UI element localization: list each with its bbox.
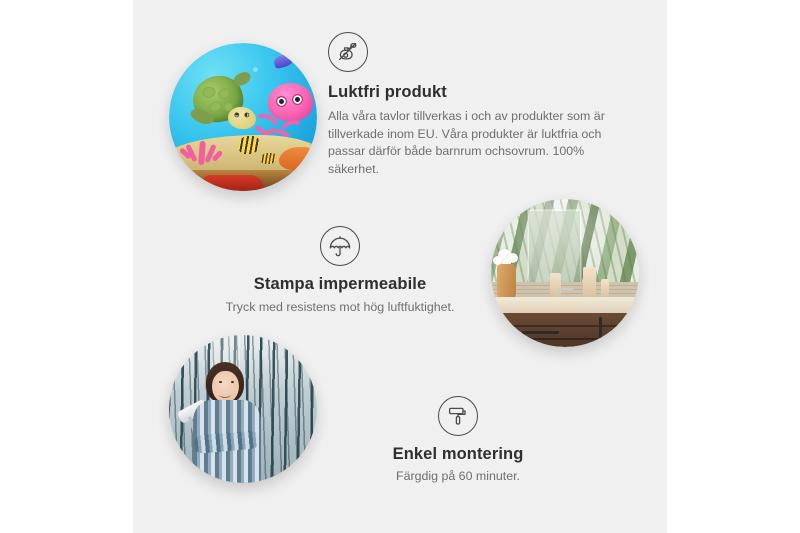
- octopus-eye: [276, 96, 287, 107]
- photo-forest-inner: [169, 335, 317, 483]
- feature-easy-install: Enkel montering Färgdig på 60 minuter.: [323, 396, 593, 486]
- toiletry-bottle: [583, 267, 596, 300]
- screenshot-root: Luktfri produkt Alla våra tavlor tillver…: [0, 0, 800, 533]
- photo-underwater-inner: [169, 43, 317, 191]
- bathroom-countertop: [491, 297, 639, 315]
- feature-waterproof-title: Stampa impermeabile: [195, 275, 485, 294]
- wooden-vanity-cabinet: [491, 313, 639, 347]
- woman-eye: [231, 381, 234, 383]
- feature-easy-install-title: Enkel montering: [323, 445, 593, 464]
- feature-odourless-title: Luktfri produkt: [328, 83, 628, 102]
- octopus-eye: [292, 94, 303, 105]
- paint-roller-icon: [438, 396, 478, 436]
- octopus-head: [268, 83, 312, 121]
- woman-face: [212, 371, 239, 404]
- photo-bathroom-tropical-wallpaper: [491, 199, 639, 347]
- feature-waterproof: Stampa impermeabile Tryck med resistens …: [195, 226, 485, 317]
- infographic-panel: Luktfri produkt Alla våra tavlor tillver…: [133, 0, 667, 533]
- yellow-fish-icon: [239, 136, 260, 154]
- photo-woman-with-paint-roller: [169, 335, 317, 483]
- umbrella-icon: [320, 226, 360, 266]
- sea-bottom-red-shape: [202, 175, 264, 191]
- photo-bathroom-inner: [491, 199, 639, 347]
- cabinet-door-handle: [599, 317, 602, 338]
- feature-easy-install-body: Färgdig på 60 minuter.: [323, 468, 593, 486]
- yellow-fish-icon: [261, 153, 276, 165]
- feature-waterproof-body: Tryck med resistens mot hög luftfuktighe…: [195, 299, 485, 317]
- feature-odourless: Luktfri produkt Alla våra tavlor tillver…: [328, 32, 628, 178]
- photo-underwater-kids-scene: [169, 43, 317, 191]
- pink-coral: [181, 126, 225, 164]
- drawer-handle: [522, 331, 559, 334]
- no-perfume-icon: [328, 32, 368, 72]
- feature-odourless-body: Alla våra tavlor tillverkas i och av pro…: [328, 108, 628, 178]
